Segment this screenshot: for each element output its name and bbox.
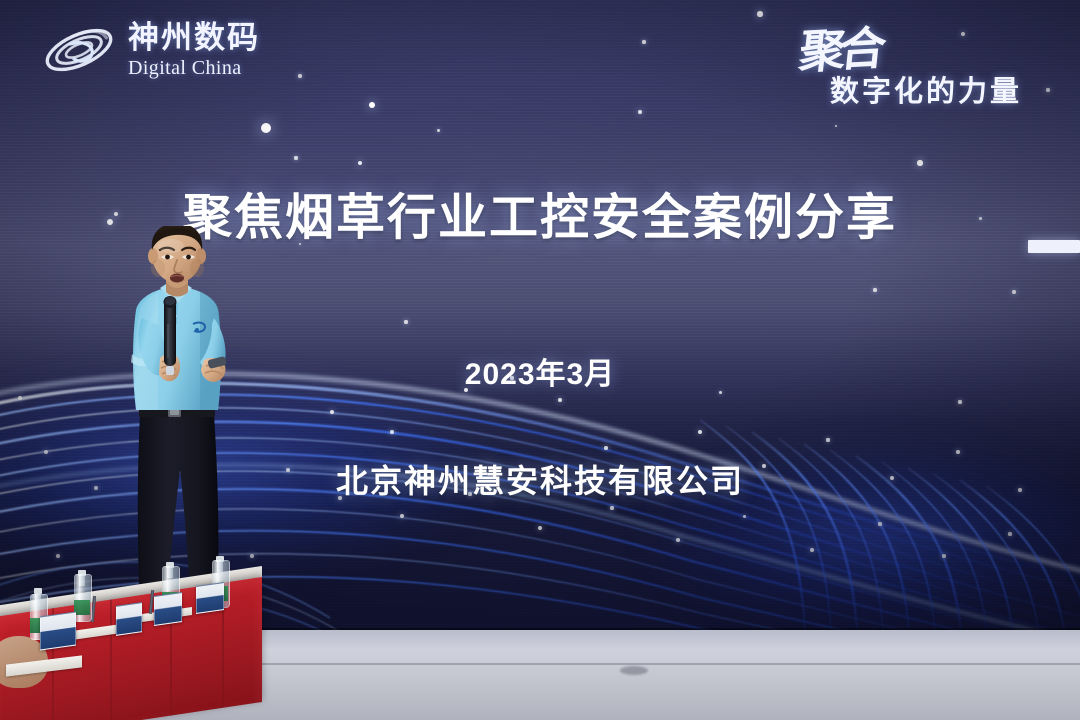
particle-dot: [642, 40, 645, 43]
name-card: [40, 611, 76, 650]
particle-dot: [358, 161, 363, 166]
event-logo-slogan: 数字化的力量: [830, 68, 1022, 110]
particle-dot: [835, 125, 838, 128]
name-card: [196, 582, 224, 614]
water-bottle: [74, 560, 96, 622]
particle-dot: [437, 129, 440, 132]
particle-dot: [917, 160, 922, 165]
particle-dot: [261, 123, 271, 133]
screen-edge-marker: [1028, 240, 1080, 253]
microphone: [164, 296, 177, 375]
name-card: [154, 592, 182, 626]
brand-wordmark: 神州数码 Digital China: [128, 22, 260, 78]
digital-china-logo: 神州数码 Digital China: [40, 18, 260, 82]
brand-name-cn: 神州数码: [128, 22, 260, 53]
event-logo: 聚合 数字化的力量: [782, 14, 1052, 114]
name-card: [116, 602, 142, 636]
particle-dot: [298, 74, 301, 77]
particle-dot: [757, 11, 762, 16]
particle-dot: [1012, 290, 1016, 294]
brand-name-en: Digital China: [128, 58, 260, 78]
particle-dot: [294, 156, 297, 159]
floor-scuff: [620, 666, 648, 675]
swirl-galaxy-icon: [40, 18, 118, 82]
particle-dot: [369, 102, 375, 108]
particle-dot: [873, 288, 876, 291]
stage-photo: 神州数码 Digital China 聚合 数字化的力量 聚焦烟草行业工控安全案…: [0, 0, 1080, 720]
particle-dot: [638, 110, 642, 114]
